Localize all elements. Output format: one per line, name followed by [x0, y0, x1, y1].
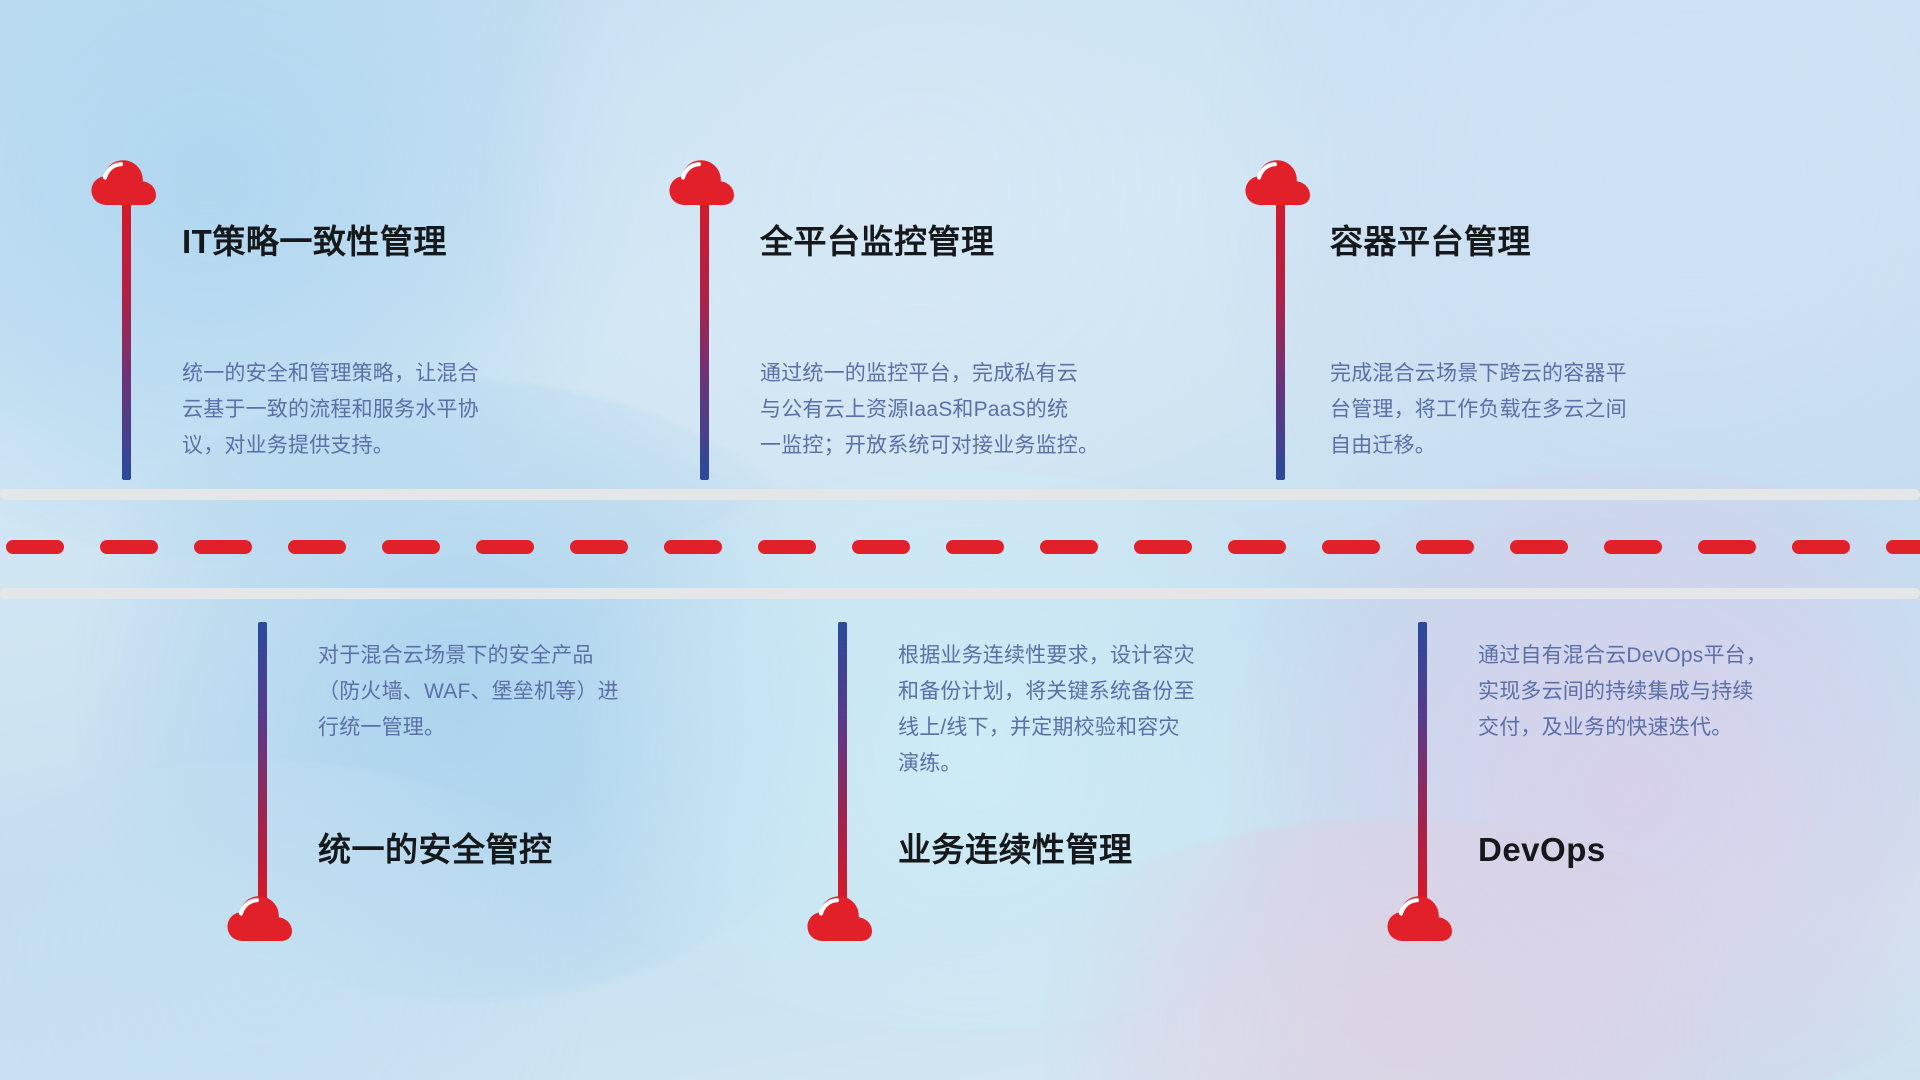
body-unified-security: 对于混合云场景下的安全产品 （防火墙、WAF、堡垒机等）进 行统一管理。: [318, 638, 748, 746]
road-dash: [1228, 540, 1286, 554]
road-dash: [288, 540, 346, 554]
road-dash: [946, 540, 1004, 554]
road-dash: [1416, 540, 1474, 554]
road-dash: [1698, 540, 1756, 554]
heading-devops: DevOps: [1478, 830, 1606, 870]
road-line-lower: [0, 588, 1920, 599]
cloud-icon: [1244, 158, 1312, 208]
road-dash: [852, 540, 910, 554]
road-dash: [476, 540, 534, 554]
marker-business-continuity: [806, 622, 886, 942]
road-dash: [758, 540, 816, 554]
marker-stem: [122, 194, 131, 480]
road-dash: [1510, 540, 1568, 554]
marker-stem: [1418, 622, 1427, 902]
heading-container-platform: 容器平台管理: [1330, 222, 1531, 262]
body-full-platform-monitoring: 通过统一的监控平台，完成私有云 与公有云上资源IaaS和PaaS的统 一监控；开…: [760, 356, 1230, 464]
road-line-upper: [0, 489, 1920, 500]
road-dash: [1792, 540, 1850, 554]
road-dash: [570, 540, 628, 554]
body-devops: 通过自有混合云DevOps平台， 实现多云间的持续集成与持续 交付，及业务的快速…: [1478, 638, 1898, 746]
body-business-continuity: 根据业务连续性要求，设计容灾 和备份计划，将关键系统备份至 线上/线下，并定期校…: [898, 638, 1328, 782]
cloud-icon: [806, 894, 874, 944]
heading-full-platform-monitoring: 全平台监控管理: [760, 222, 995, 262]
road-dash: [1322, 540, 1380, 554]
cloud-icon: [1386, 894, 1454, 944]
marker-unified-security: [226, 622, 306, 942]
road-dash: [6, 540, 64, 554]
road-dash: [1604, 540, 1662, 554]
marker-stem: [258, 622, 267, 902]
marker-devops: [1386, 622, 1466, 942]
heading-unified-security: 统一的安全管控: [318, 830, 553, 870]
marker-it-policy-consistency: [90, 158, 170, 478]
road-dash: [382, 540, 440, 554]
cloud-icon: [226, 894, 294, 944]
road-dash: [194, 540, 252, 554]
road-dashed-centerline: [0, 540, 1920, 554]
marker-container-platform: [1244, 158, 1324, 478]
body-container-platform: 完成混合云场景下跨云的容器平 台管理，将工作负载在多云之间 自由迁移。: [1330, 356, 1780, 464]
marker-full-platform-monitoring: [668, 158, 748, 478]
marker-stem: [838, 622, 847, 902]
road-dash: [664, 540, 722, 554]
heading-business-continuity: 业务连续性管理: [898, 830, 1133, 870]
infographic-canvas: IT策略一致性管理 统一的安全和管理策略，让混合 云基于一致的流程和服务水平协 …: [0, 0, 1920, 1080]
cloud-icon: [90, 158, 158, 208]
body-it-policy-consistency: 统一的安全和管理策略，让混合 云基于一致的流程和服务水平协 议，对业务提供支持。: [182, 356, 622, 464]
marker-stem: [1276, 194, 1285, 480]
road-dash: [100, 540, 158, 554]
road-dash: [1040, 540, 1098, 554]
road-dash: [1886, 540, 1920, 554]
cloud-icon: [668, 158, 736, 208]
heading-it-policy-consistency: IT策略一致性管理: [182, 222, 447, 262]
road-dash: [1134, 540, 1192, 554]
marker-stem: [700, 194, 709, 480]
